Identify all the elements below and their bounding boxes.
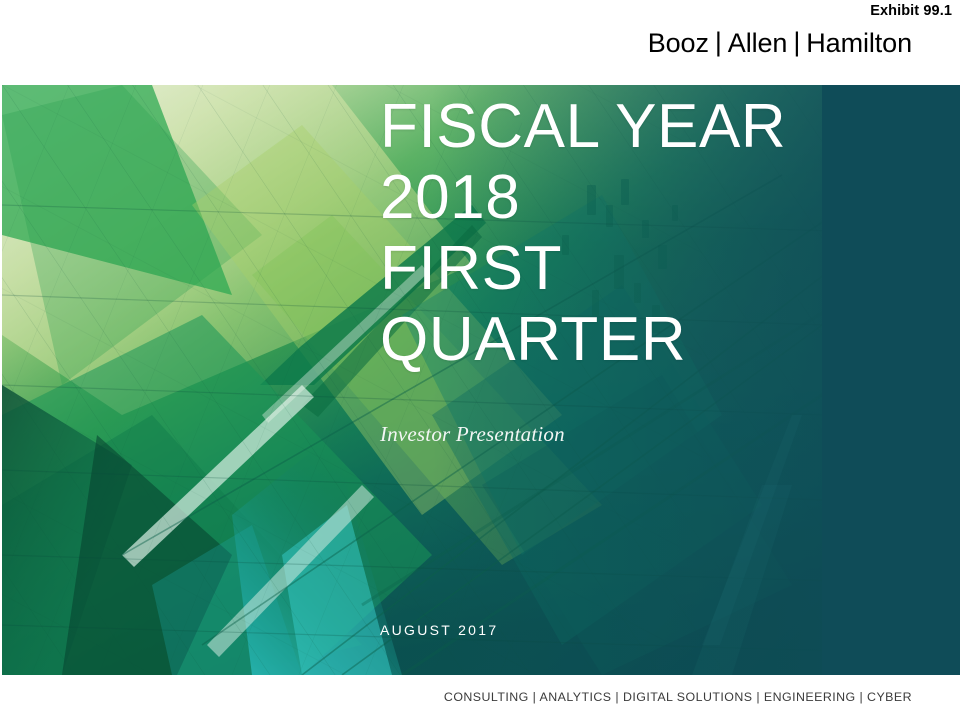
page-header: Exhibit 99.1 Booz|Allen|Hamilton: [0, 0, 960, 85]
hero-section: FISCAL YEAR 2018 FIRST QUARTER Investor …: [2, 85, 960, 675]
hero-title-line-1: FISCAL YEAR: [380, 91, 940, 162]
logo-word-booz: Booz: [648, 28, 709, 58]
hero-title-line-3: FIRST: [380, 233, 940, 304]
logo-separator-1: |: [709, 27, 728, 58]
hero-title-line-4: QUARTER: [380, 304, 940, 375]
hero-date: AUGUST 2017: [380, 622, 498, 638]
hero-title: FISCAL YEAR 2018 FIRST QUARTER: [380, 91, 940, 375]
logo-word-hamilton: Hamilton: [806, 28, 912, 58]
logo-separator-2: |: [787, 27, 806, 58]
booz-allen-hamilton-logo: Booz|Allen|Hamilton: [648, 28, 912, 59]
footer-tagline: CONSULTING | ANALYTICS | DIGITAL SOLUTIO…: [444, 690, 912, 704]
exhibit-label: Exhibit 99.1: [870, 3, 952, 19]
hero-subtitle: Investor Presentation: [380, 422, 565, 447]
page-footer: CONSULTING | ANALYTICS | DIGITAL SOLUTIO…: [0, 675, 960, 720]
hero-title-line-2: 2018: [380, 162, 940, 233]
logo-word-allen: Allen: [728, 28, 788, 58]
